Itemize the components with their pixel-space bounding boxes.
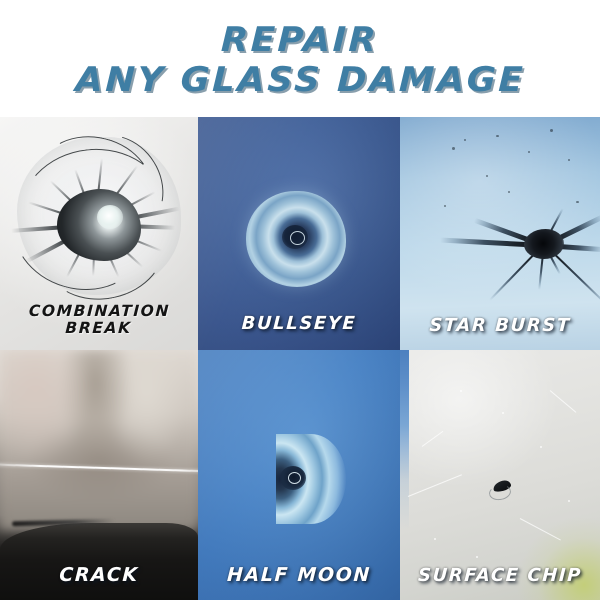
- damage-cell-crack[interactable]: CRACK: [0, 350, 198, 600]
- cell-label-bullseye: BULLSEYE: [198, 314, 400, 334]
- cell-label-crack: CRACK: [0, 565, 198, 586]
- blurred-road-scene: [0, 350, 198, 530]
- damage-cell-surface-chip[interactable]: SURFACE CHIP: [400, 350, 600, 600]
- cell-label-star-burst: STAR BURST: [400, 316, 600, 336]
- cell-label-combination-break: COMBINATION BREAK: [0, 303, 198, 338]
- combination-break-illustration: [9, 131, 189, 303]
- headline-line-1: REPAIR: [221, 23, 380, 58]
- bullseye-illustration: [246, 191, 346, 287]
- star-impact-hub: [524, 229, 564, 259]
- dashboard: [0, 523, 198, 600]
- half-moon-illustration: [276, 434, 346, 524]
- poster: REPAIR ANY GLASS DAMAGE: [0, 0, 600, 600]
- damage-cell-combination-break[interactable]: COMBINATION BREAK: [0, 117, 198, 350]
- impact-core: [57, 189, 141, 261]
- damage-cell-star-burst[interactable]: STAR BURST: [400, 117, 600, 350]
- cell-label-surface-chip: SURFACE CHIP: [400, 566, 600, 586]
- damage-cell-half-moon[interactable]: HALF MOON: [198, 350, 400, 600]
- chip-halo: [488, 483, 512, 502]
- headline-line-2: ANY GLASS DAMAGE: [74, 63, 525, 98]
- surface-chip-illustration: [488, 478, 514, 502]
- damage-type-grid: COMBINATION BREAK BULLSEYE: [0, 117, 600, 600]
- half-moon-ring: [288, 472, 301, 484]
- glass-sheen: [400, 350, 600, 600]
- damage-cell-bullseye[interactable]: BULLSEYE: [198, 117, 400, 350]
- cell-label-half-moon: HALF MOON: [198, 565, 400, 586]
- poster-header: REPAIR ANY GLASS DAMAGE: [0, 0, 600, 117]
- edge-tint: [400, 350, 409, 600]
